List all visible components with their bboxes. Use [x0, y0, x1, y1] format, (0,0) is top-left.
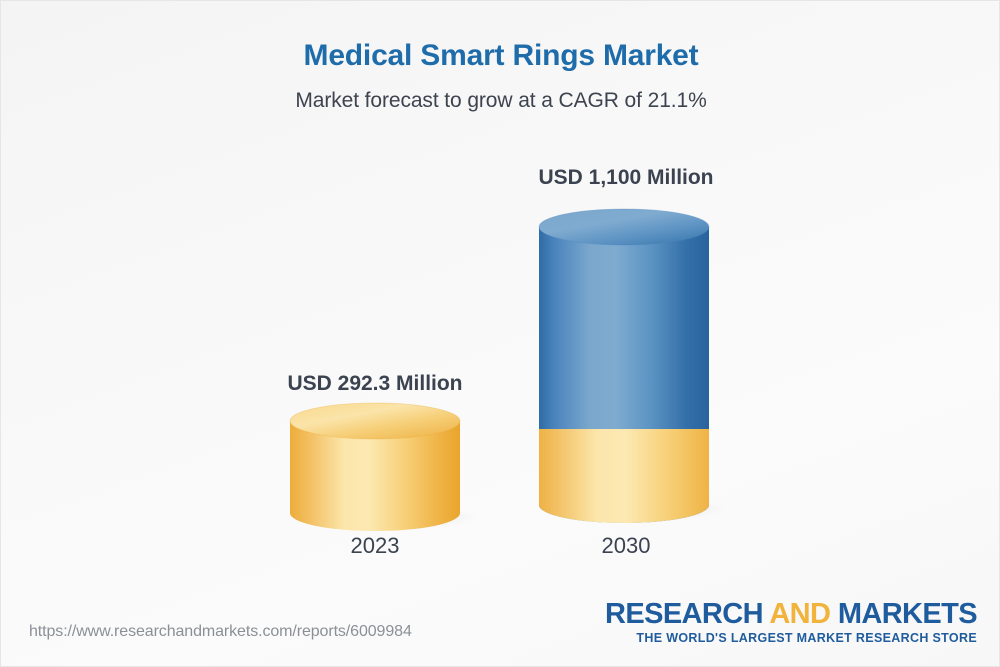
value-label-2030: USD 1,100 Million — [426, 166, 826, 190]
brand-logo: RESEARCH AND MARKETS THE WORLD'S LARGEST… — [605, 599, 977, 645]
category-label-2023: 2023 — [275, 533, 475, 559]
page-title: Medical Smart Rings Market — [1, 39, 1000, 73]
category-label-2030: 2030 — [526, 533, 726, 559]
logo-word-markets: MARKETS — [838, 598, 977, 630]
chart-canvas: Medical Smart Rings Market Market foreca… — [0, 0, 1000, 667]
logo-tagline: THE WORLD'S LARGEST MARKET RESEARCH STOR… — [605, 631, 977, 645]
logo-wordmark: RESEARCH AND MARKETS — [605, 599, 977, 629]
bar-cylinder-2023 — [284, 393, 484, 538]
logo-word-research: RESEARCH — [605, 598, 763, 630]
bar-cylinder-2030 — [533, 199, 733, 529]
logo-word-and: AND — [763, 598, 838, 630]
chart-subtitle: Market forecast to grow at a CAGR of 21.… — [1, 89, 1000, 113]
source-url[interactable]: https://www.researchandmarkets.com/repor… — [29, 623, 412, 641]
